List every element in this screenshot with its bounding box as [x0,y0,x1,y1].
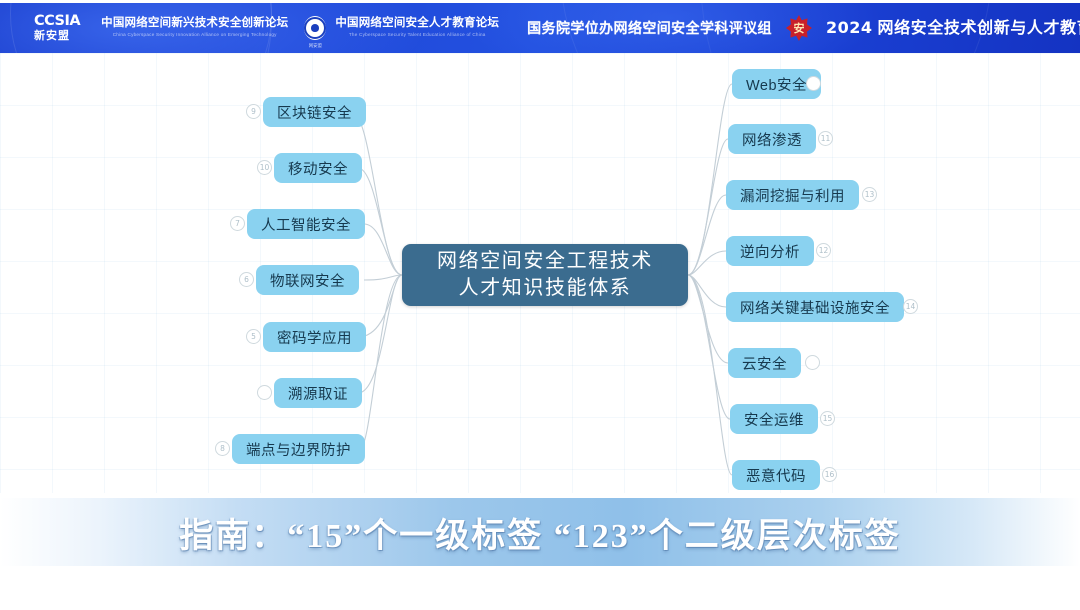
node-marker-reverse-engineering[interactable]: 12 [816,243,831,258]
center-node-line1: 网络空间安全工程技术 [437,248,653,275]
marker-label: 16 [825,470,835,479]
red-star-glyph: 安 [786,15,812,41]
ccsia-logo-mark: CCSIA [34,14,80,29]
node-label: 人工智能安全 [261,214,351,235]
mindmap-node-endpoint-boundary-defense[interactable]: 端点与边界防护 [232,434,365,464]
node-marker-endpoint-boundary-defense[interactable]: 8 [215,441,230,456]
header-logo-row: CCSIA 新安盟 中国网络空间新兴技术安全创新论坛 China Cybersp… [0,3,1080,53]
mindmap-node-security-operations[interactable]: 安全运维 [730,404,818,434]
emblem-ring [304,17,326,39]
marker-label: 10 [260,163,270,172]
node-marker-web-security[interactable] [806,76,821,91]
mindmap-node-blockchain-security[interactable]: 区块链安全 [263,97,366,127]
node-marker-cloud-security[interactable] [805,355,820,370]
edge-right-3 [688,195,726,275]
event-title: 2024 网络安全技术创新与人才教育高峰论坛 [826,20,1080,37]
marker-label: 11 [821,134,831,143]
marker-label: 9 [251,107,256,116]
node-marker-cryptography-application[interactable]: 5 [246,329,261,344]
marker-label: 13 [865,190,875,199]
node-marker-blockchain-security[interactable]: 9 [246,104,261,119]
node-label: 密码学应用 [277,327,352,348]
node-label: 移动安全 [288,158,348,179]
node-marker-vulnerability-discovery-exploit[interactable]: 13 [862,187,877,202]
org2-name-cn: 中国网络空间安全人才教育论坛 [335,18,499,30]
slide-canvas: CCSIA 新安盟 中国网络空间新兴技术安全创新论坛 China Cybersp… [0,0,1080,610]
node-label: 安全运维 [744,409,804,430]
mindmap-node-vulnerability-discovery-exploit[interactable]: 漏洞挖掘与利用 [726,180,859,210]
org-talent-education-alliance: 中国网络空间安全人才教育论坛 The Cyberspace Security T… [335,18,499,37]
org-degree-office-committee: 国务院学位办网络空间安全学科评议组 [527,21,772,35]
mindmap-node-traceability-forensics[interactable]: 溯源取证 [274,378,362,408]
node-marker-traceability-forensics[interactable] [257,385,272,400]
node-marker-network-penetration[interactable]: 11 [818,131,833,146]
org1-name-en: China Cyberspace Security Innovation All… [113,33,277,38]
node-label: 恶意代码 [746,465,806,486]
node-label: 物联网安全 [270,270,345,291]
org-forum-emerging-tech: 中国网络空间新兴技术安全创新论坛 China Cyberspace Securi… [101,18,288,37]
bottom-whitespace [0,566,1080,610]
mindmap-node-cloud-security[interactable]: 云安全 [728,348,801,378]
ccsia-logo: CCSIA 新安盟 [34,14,80,42]
mindmap-node-critical-infrastructure-security[interactable]: 网络关键基础设施安全 [726,292,904,322]
mindmap-node-iot-security[interactable]: 物联网安全 [256,265,359,295]
event-year: 2024 [826,18,873,37]
marker-label: 8 [220,444,225,453]
mindmap-canvas: 区块链安全 9 移动安全 10 人工智能安全 7 物联网安全 6 密码学应用 5 [0,53,1080,493]
center-node-line2: 人才知识技能体系 [459,275,632,302]
node-label: 逆向分析 [740,241,800,262]
node-marker-mobile-security[interactable]: 10 [257,160,272,175]
marker-label: 7 [235,219,240,228]
org3-name-cn: 国务院学位办网络空间安全学科评议组 [527,21,772,35]
event-title-text: 2024 网络安全技术创新与人才教育高峰论坛 [826,20,1080,37]
node-marker-security-operations[interactable]: 15 [820,411,835,426]
bottom-banner: 指南：“15”个一级标签 “123”个二级层次标签 [0,498,1080,566]
node-label: 漏洞挖掘与利用 [740,185,845,206]
mindmap-node-cryptography-application[interactable]: 密码学应用 [263,322,366,352]
node-label: 云安全 [742,353,787,374]
edge-right-7 [688,275,730,419]
edge-right-6 [688,275,728,363]
mindmap-node-reverse-engineering[interactable]: 逆向分析 [726,236,814,266]
marker-label: 5 [251,332,256,341]
mindmap-node-mobile-security[interactable]: 移动安全 [274,153,362,183]
edge-right-2 [688,139,728,275]
node-marker-iot-security[interactable]: 6 [239,272,254,287]
node-label: 网络关键基础设施安全 [740,297,890,318]
node-marker-ai-security[interactable]: 7 [230,216,245,231]
node-label: 溯源取证 [288,383,348,404]
emblem-caption: 网安盟 [309,43,322,49]
marker-label: 12 [819,246,829,255]
org2-name-en: The Cyberspace Security Talent Education… [349,33,486,38]
edge-left-1 [352,112,402,275]
mindmap-node-ai-security[interactable]: 人工智能安全 [247,209,365,239]
marker-label: 15 [823,414,833,423]
emblem-core [311,24,319,32]
talent-alliance-emblem-icon: 网安盟 [304,16,326,40]
ccsia-logo-subtitle: 新安盟 [34,31,70,42]
bottom-banner-text: 指南：“15”个一级标签 “123”个二级层次标签 [179,508,901,557]
org1-name-cn: 中国网络空间新兴技术安全创新论坛 [101,18,288,30]
node-marker-critical-infrastructure-security[interactable]: 14 [903,299,918,314]
mindmap-node-malicious-code[interactable]: 恶意代码 [732,460,820,490]
node-label: 区块链安全 [277,102,352,123]
node-label: 网络渗透 [742,129,802,150]
header-banner: CCSIA 新安盟 中国网络空间新兴技术安全创新论坛 China Cybersp… [0,3,1080,53]
event-name-cn: 网络安全技术创新与人才教育高峰论坛 [878,20,1080,37]
marker-label: 6 [244,275,249,284]
node-label: Web安全 [746,74,807,95]
node-label: 端点与边界防护 [246,439,351,460]
edge-left-7 [360,275,402,449]
mindmap-center-node[interactable]: 网络空间安全工程技术 人才知识技能体系 [402,244,688,306]
mindmap-node-network-penetration[interactable]: 网络渗透 [728,124,816,154]
marker-label: 14 [906,302,916,311]
node-marker-malicious-code[interactable]: 16 [822,467,837,482]
